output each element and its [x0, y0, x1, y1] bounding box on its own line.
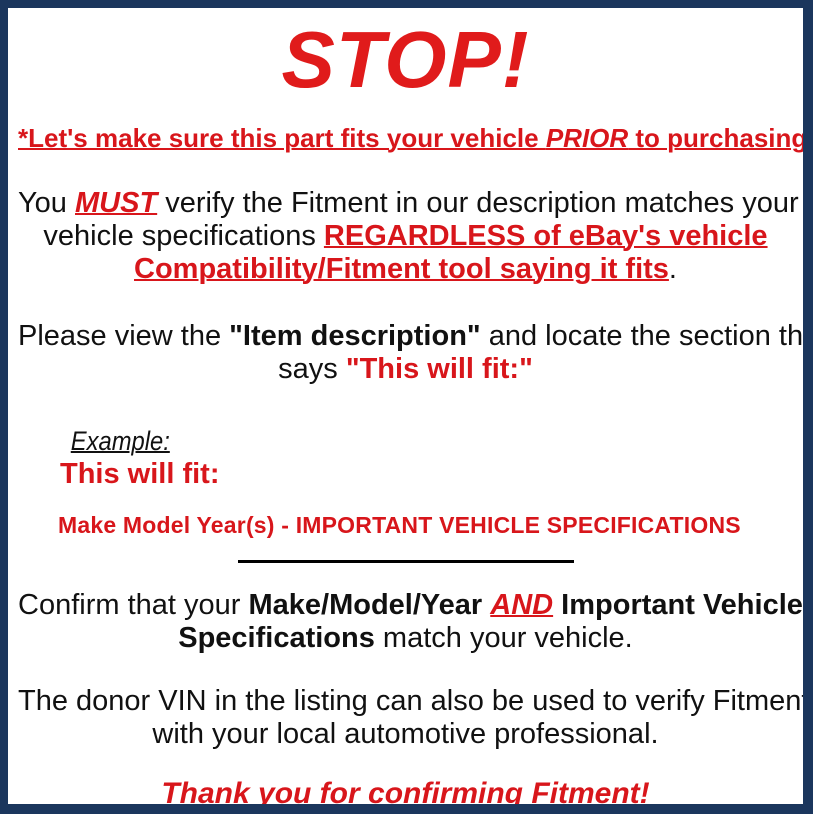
example-label-row: Example:: [64, 426, 793, 456]
example-label: Example:: [71, 426, 170, 456]
verify-must-emphasis: MUST: [75, 187, 157, 219]
paragraph-verify-fitment: You MUST verify the Fitment in our descr…: [18, 187, 793, 286]
closing-message-text: Thank you for confirming Fitment!: [161, 777, 649, 810]
paragraph-verify-line-1-text: You MUST verify the Fitment in our descr…: [18, 187, 799, 219]
example-spec-line: Make Model Year(s) - IMPORTANT VEHICLE S…: [58, 512, 741, 538]
paragraph-vin-line-1: The donor VIN in the listing can also be…: [18, 685, 793, 718]
important-vehicle-emphasis-2: Specifications: [178, 622, 375, 654]
paragraph-item-description: Please view the "Item description" and l…: [18, 320, 793, 386]
page-title-text: STOP!: [281, 15, 529, 104]
item-seg-3: says: [278, 353, 346, 385]
this-will-fit-emphasis: "This will fit:": [346, 353, 533, 385]
page-title: STOP!: [18, 20, 793, 100]
paragraph-verify-line-3-text: Compatibility/Fitment tool saying it fit…: [134, 253, 677, 285]
and-emphasis: AND: [490, 589, 553, 621]
paragraph-vin-line-2: with your local automotive professional.: [18, 718, 793, 751]
verify-regardless-line-1: REGARDLESS of eBay's vehicle: [324, 220, 768, 252]
paragraph-vin-line-1-text: The donor VIN in the listing can also be…: [18, 685, 809, 717]
important-vehicle-emphasis-1: Important Vehicle: [553, 589, 803, 621]
paragraph-confirm: Confirm that your Make/Model/Year AND Im…: [18, 589, 793, 655]
confirm-seg-2: match your vehicle.: [375, 622, 633, 654]
notice-body: STOP! *Let's make sure this part fits yo…: [8, 20, 803, 814]
horizontal-rule: [238, 560, 574, 563]
item-seg-2: and locate the section that: [481, 320, 813, 352]
paragraph-verify-line-3: Compatibility/Fitment tool saying it fit…: [18, 253, 793, 286]
paragraph-item-line-1: Please view the "Item description" and l…: [18, 320, 793, 353]
paragraph-confirm-line-2-text: Specifications match your vehicle.: [178, 622, 633, 654]
example-spec-line-row: Make Model Year(s) - IMPORTANT VEHICLE S…: [58, 512, 793, 538]
verify-period: .: [669, 253, 677, 285]
verify-regardless-line-2: Compatibility/Fitment tool saying it fit…: [134, 253, 669, 285]
closing-message: Thank you for confirming Fitment!: [18, 777, 793, 811]
subtitle-emphasis: PRIOR: [546, 123, 628, 153]
paragraph-verify-line-2-text: vehicle specifications REGARDLESS of eBa…: [43, 220, 767, 252]
paragraph-verify-line-1: You MUST verify the Fitment in our descr…: [18, 187, 793, 220]
paragraph-item-line-1-text: Please view the "Item description" and l…: [18, 320, 813, 352]
paragraph-confirm-line-1: Confirm that your Make/Model/Year AND Im…: [18, 589, 793, 622]
make-model-year-emphasis: Make/Model/Year: [248, 589, 482, 621]
example-block: Example: This will fit: Make Model Year(…: [18, 426, 793, 538]
item-description-emphasis: "Item description": [229, 320, 480, 352]
paragraph-confirm-line-1-text: Confirm that your Make/Model/Year AND Im…: [18, 589, 803, 621]
paragraph-item-line-2-text: says "This will fit:": [278, 353, 533, 385]
verify-seg-2: verify the Fitment in our description ma…: [157, 187, 798, 219]
example-fit-heading: This will fit:: [60, 458, 220, 490]
divider-wrap: [18, 560, 793, 563]
paragraph-confirm-line-2: Specifications match your vehicle.: [18, 622, 793, 655]
verify-seg-3: vehicle specifications: [43, 220, 323, 252]
verify-seg-1: You: [18, 187, 75, 219]
fitment-notice-card: STOP! *Let's make sure this part fits yo…: [0, 0, 813, 814]
item-seg-1: Please view the: [18, 320, 229, 352]
confirm-seg-1: Confirm that your: [18, 589, 248, 621]
paragraph-vin-line-2-text: with your local automotive professional.: [152, 718, 658, 750]
subtitle-banner: *Let's make sure this part fits your veh…: [18, 124, 793, 153]
subtitle-after: to purchasing*: [628, 123, 813, 153]
subtitle-before: *Let's make sure this part fits your veh…: [18, 123, 546, 153]
paragraph-donor-vin: The donor VIN in the listing can also be…: [18, 685, 793, 751]
paragraph-verify-line-2: vehicle specifications REGARDLESS of eBa…: [18, 220, 793, 253]
subtitle-line: *Let's make sure this part fits your veh…: [18, 123, 813, 153]
example-fit-heading-row: This will fit:: [60, 458, 793, 490]
paragraph-item-line-2: says "This will fit:": [18, 353, 793, 386]
